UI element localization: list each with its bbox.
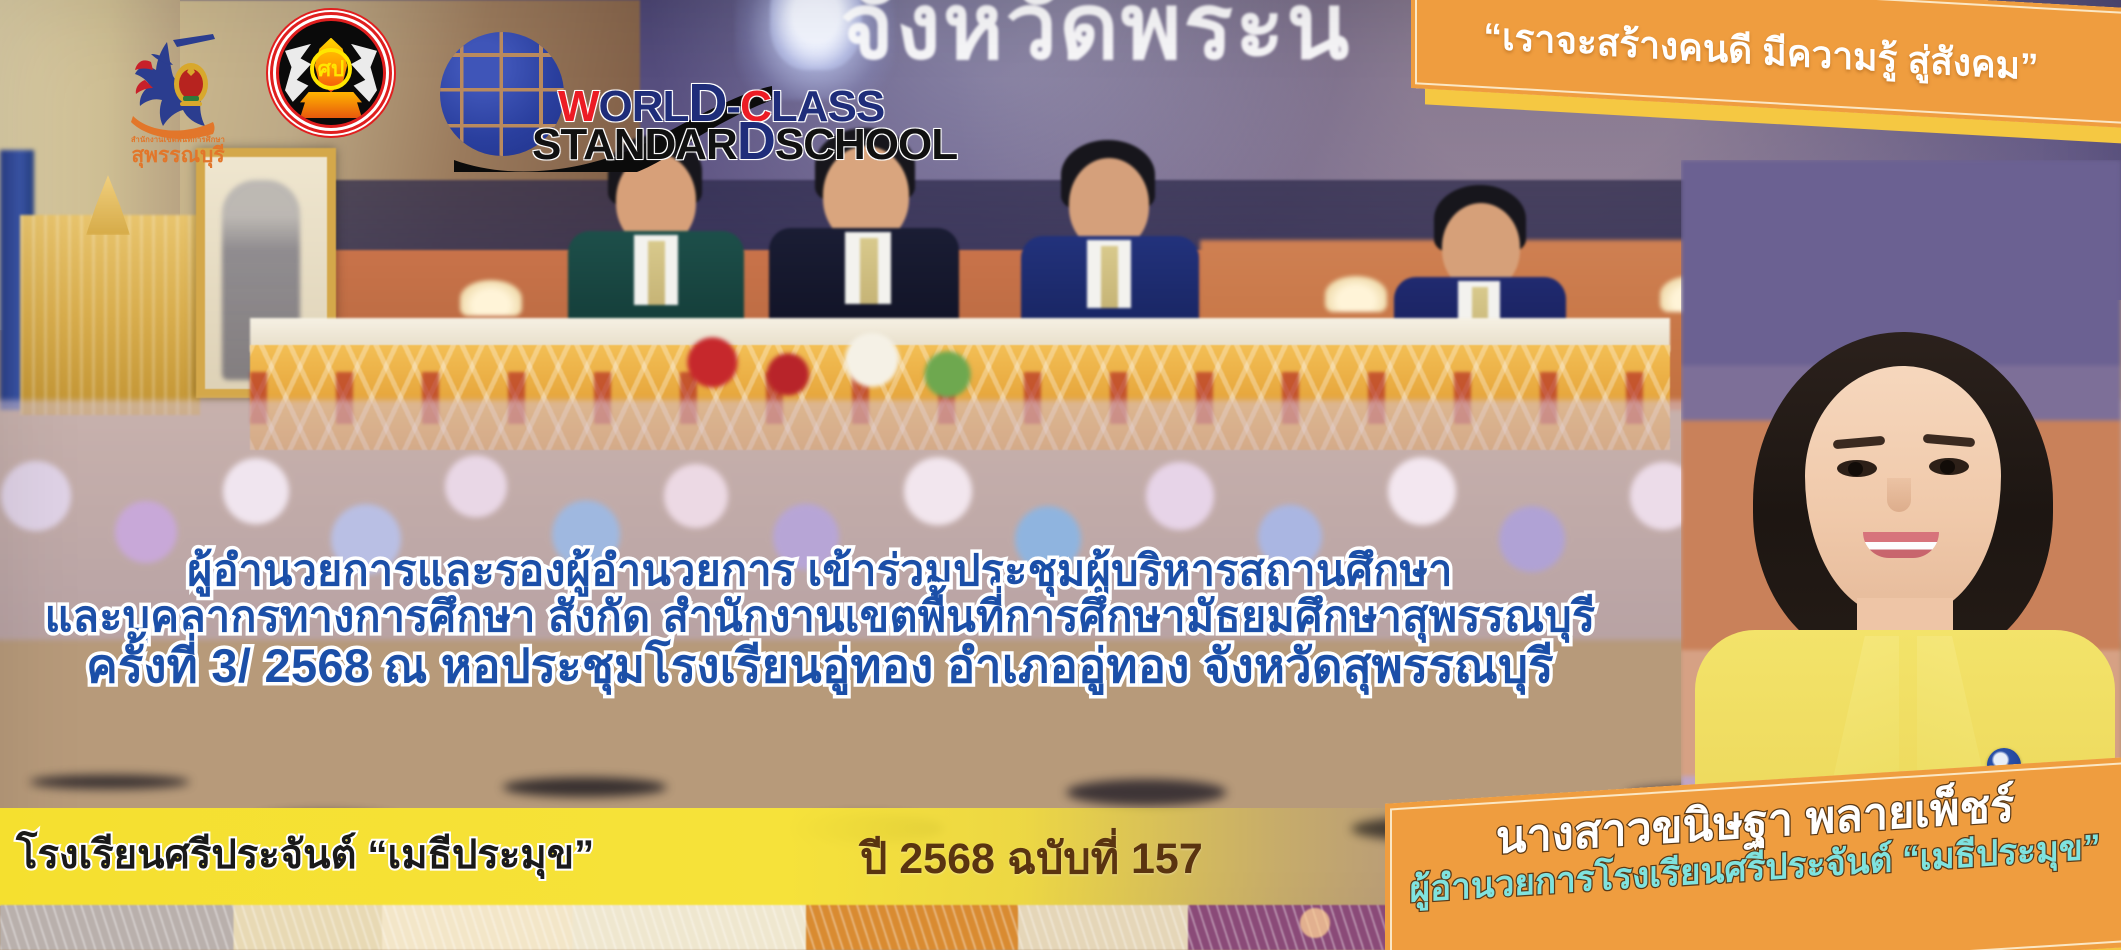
director-eye-left: [1837, 460, 1877, 477]
school-seal-logo: ศป: [276, 18, 386, 128]
wcss-d2: D: [737, 111, 775, 171]
wcss-school: SCHOOL: [775, 120, 957, 169]
wcss-standar: STANDAR: [532, 120, 737, 169]
gold-altar: [20, 215, 200, 415]
backdrop-headline-text: จังหวัดพระน: [840, 0, 1351, 99]
warrior-on-elephant-icon: [127, 34, 227, 142]
seal-pedestal: [300, 92, 362, 118]
wall-lamp: [460, 280, 522, 316]
issue-number-label: ปี 2568 ฉบับที่ 157: [860, 824, 1203, 892]
wall-lamp: [1325, 276, 1387, 312]
seal-flame-ornament-right: [351, 44, 377, 102]
newsletter-poster: จังหวัดพระน: [0, 0, 2121, 950]
spm-caption-small: สำนักงานเขตพื้นที่การศึกษา: [113, 136, 243, 144]
headline-block: ผู้อำนวยการและรองผู้อำนวยการ เข้าร่วมประ…: [0, 548, 1640, 692]
wcss-line-2: STANDARDSCHOOL: [532, 120, 957, 170]
official-person: [1015, 140, 1205, 340]
headline-line-3: ครั้งที่ 3/ 2568 ณ หอประชุมโรงเรียนอู่ทอ…: [0, 641, 1640, 692]
seal-flame-ornament-left: [285, 44, 311, 102]
motto-banner: “เราจะสร้างคนดี มีความรู้ สู่สังคม”: [1391, 0, 2121, 138]
spm-caption-large: สุพรรณบุรี: [113, 145, 243, 166]
director-eye-right: [1929, 458, 1969, 475]
headline-line-2: และบุคลากรทางการศึกษา สังกัด สำนักงานเขต…: [0, 594, 1640, 640]
director-nose: [1887, 478, 1911, 512]
suphanburi-education-area-logo: สำนักงานเขตพื้นที่การศึกษา สุพรรณบุรี: [125, 28, 230, 178]
spm-logo-caption: สำนักงานเขตพื้นที่การศึกษา สุพรรณบุรี: [113, 136, 243, 166]
world-class-standard-school-logo: WORLD-CLASS STANDARDSCHOOL: [440, 22, 840, 172]
seal-monogram: ศป: [310, 48, 352, 90]
headline-line-1: ผู้อำนวยการและรองผู้อำนวยการ เข้าร่วมประ…: [0, 548, 1640, 594]
school-name-label: โรงเรียนศรีประจันต์ “เมธีประมุข”: [16, 822, 594, 886]
director-name-banner: นางสาวขนิษฐา พลายเพ็ชร์ ผู้อำนวยการโรงเร…: [1375, 756, 2121, 950]
